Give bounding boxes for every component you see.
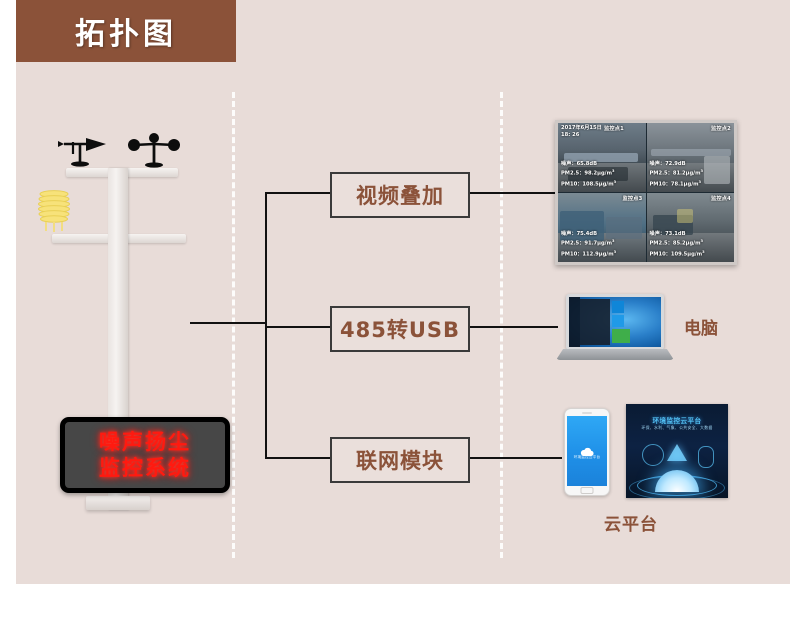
cctv-quadrant-3[interactable]: 监控点3 噪声：75.4dB PM2.5：91.7μg/m3 PM10：112.…	[558, 193, 646, 262]
topology-diagram-page: 拓扑图	[0, 0, 790, 624]
cctv-pm10-4: PM10：109.5μg/m3	[650, 249, 705, 259]
cctv-point-label-3: 监控点3	[623, 195, 643, 202]
start-tile-2	[612, 315, 624, 327]
branch-line-network	[265, 457, 332, 459]
cctv-pm25-3: PM2.5：91.7μg/m3	[561, 238, 616, 248]
start-tile-1	[612, 301, 624, 313]
cctv-timestamp-date: 2017年6月15日	[561, 125, 602, 132]
cctv-readout-4: 噪声：73.1dB PM2.5：85.2μg/m3 PM10：109.5μg/m…	[650, 231, 705, 259]
cloud-icon	[579, 442, 595, 452]
cloud-dome-glow	[655, 470, 699, 492]
cctv-readout-1: 噪声：65.8dB PM2.5：98.2μg/m3 PM10：108.5μg/m…	[561, 161, 616, 189]
pole-base	[86, 496, 150, 510]
trunk-line	[190, 322, 267, 324]
branch-line-video	[265, 192, 332, 194]
led-line-1: 噪声扬尘	[99, 429, 191, 455]
scene-object-4b	[677, 209, 693, 223]
cloud-orbit-left	[642, 444, 664, 466]
link-line-network-cloud	[466, 457, 562, 459]
windows-taskbar	[569, 297, 580, 347]
phone-earpiece	[582, 412, 592, 414]
module-box-video-overlay[interactable]: 视频叠加	[330, 172, 470, 218]
cctv-pm25-4: PM2.5：85.2μg/m3	[650, 238, 705, 248]
cctv-pm25-1: PM2.5：98.2μg/m3	[561, 168, 616, 178]
windows-start-menu	[580, 299, 610, 345]
branch-line-usb	[265, 326, 332, 328]
phone-screen: 环境监控云平台	[567, 416, 607, 486]
module-box-485-to-usb[interactable]: 485转USB	[330, 306, 470, 352]
cctv-pm10-3: PM10：112.9μg/m3	[561, 249, 616, 259]
cloud-platform-label: 云平台	[604, 510, 658, 535]
cctv-readout-2: 噪声：72.9dB PM2.5：81.2μg/m3 PM10：78.1μg/m3	[650, 161, 704, 189]
computer-label: 电脑	[684, 314, 718, 339]
laptop-keyboard-base	[556, 349, 674, 360]
column-divider-left	[232, 92, 235, 558]
link-line-usb-computer	[466, 326, 558, 328]
laptop-computer[interactable]	[556, 294, 674, 360]
radiation-shield-icon	[34, 188, 74, 238]
page-title: 拓扑图	[16, 0, 236, 62]
led-line-2: 监控系统	[99, 455, 191, 481]
cctv-point-label-2: 监控点2	[711, 125, 731, 132]
monitoring-station: 噪声扬尘 监控系统	[30, 130, 220, 520]
cctv-noise-2: 噪声：72.9dB	[650, 161, 704, 169]
cctv-noise-1: 噪声：65.8dB	[561, 161, 616, 169]
column-divider-right	[500, 92, 503, 558]
header-ribbon: 拓扑图	[16, 0, 236, 62]
cctv-timestamp-time: 18: 26	[561, 132, 602, 139]
cloud-banner-subtitle: 环保、水利、气象、公共安全、大数据	[626, 425, 728, 431]
scene-object-2b	[704, 156, 730, 184]
cctv-pm25-2: PM2.5：81.2μg/m3	[650, 168, 704, 178]
cctv-pm10-1: PM10：108.5μg/m3	[561, 179, 616, 189]
link-line-video-monitor	[466, 192, 556, 194]
phone-home-button[interactable]	[581, 487, 594, 494]
led-display-board: 噪声扬尘 监控系统	[60, 417, 230, 493]
laptop-lid	[566, 294, 664, 350]
cctv-point-label-4: 监控点4	[711, 195, 731, 202]
cloud-orbit-right	[698, 446, 714, 468]
cctv-readout-3: 噪声：75.4dB PM2.5：91.7μg/m3 PM10：112.9μg/m…	[561, 231, 616, 259]
module-box-network[interactable]: 联网模块	[330, 437, 470, 483]
cctv-pm10-2: PM10：78.1μg/m3	[650, 179, 704, 189]
cctv-monitor[interactable]: 2017年6月15日 18: 26 监控点1 噪声：65.8dB PM2.5：9…	[555, 120, 737, 265]
cctv-quadrant-4[interactable]: 监控点4 噪声：73.1dB PM2.5：85.2μg/m3 PM10：109.…	[647, 193, 735, 262]
cctv-noise-3: 噪声：75.4dB	[561, 231, 616, 239]
scene-object-2a	[651, 149, 731, 156]
cloud-prism-icon	[667, 444, 687, 461]
cloud-platform-banner[interactable]: 环境监控云平台 环保、水利、气象、公共安全、大数据	[626, 404, 728, 498]
laptop-screen	[569, 297, 661, 347]
cctv-quadrant-2[interactable]: 监控点2 噪声：72.9dB PM2.5：81.2μg/m3 PM10：78.1…	[647, 123, 735, 192]
cctv-noise-4: 噪声：73.1dB	[650, 231, 705, 239]
cctv-timestamp: 2017年6月15日 18: 26	[561, 125, 602, 139]
cloud-banner-title: 环境监控云平台	[626, 415, 728, 425]
anemometer-icon	[126, 132, 182, 172]
mobile-phone[interactable]: 环境监控云平台	[564, 408, 610, 496]
wind-vane-icon	[56, 132, 116, 172]
start-tile-3	[612, 329, 630, 343]
cctv-point-label-1: 监控点1	[604, 125, 624, 132]
cctv-quadrant-1[interactable]: 2017年6月15日 18: 26 监控点1 噪声：65.8dB PM2.5：9…	[558, 123, 646, 192]
